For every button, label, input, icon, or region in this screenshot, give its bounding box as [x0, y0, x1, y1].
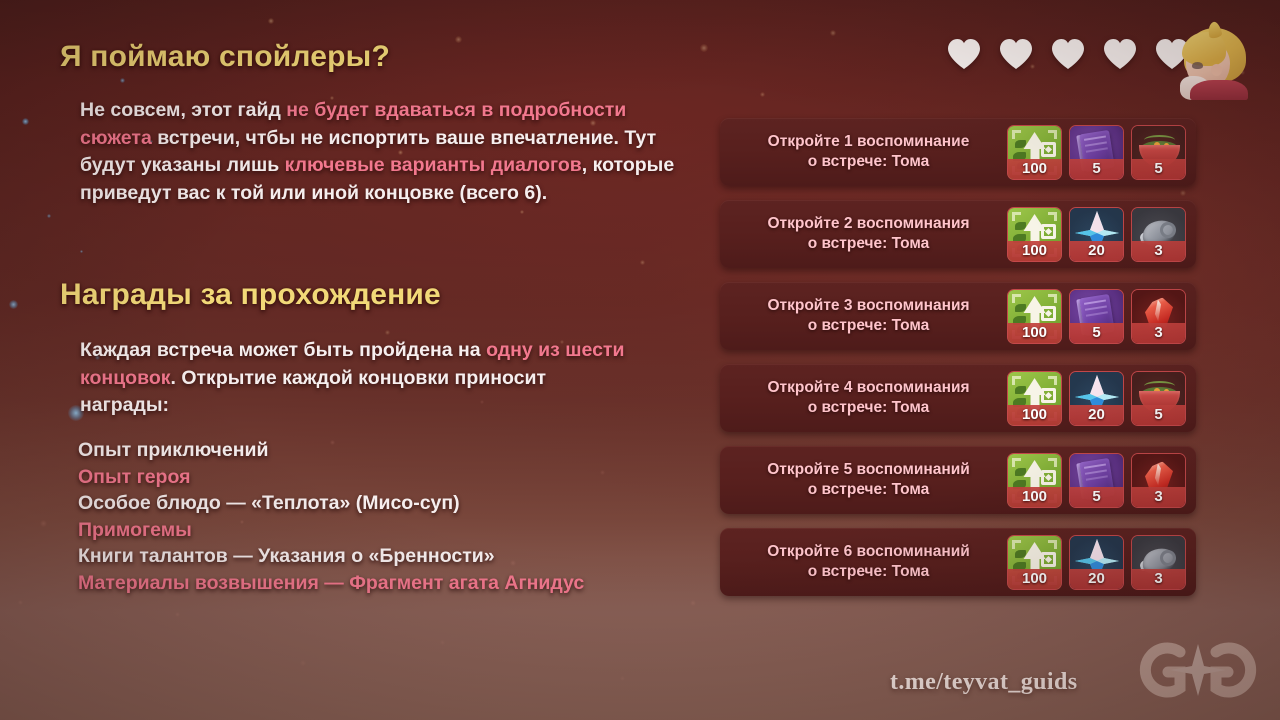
reward-item-quantity: 5 — [1132, 405, 1185, 425]
reward-card-title-line1: Откройте 6 воспоминаний — [767, 543, 970, 560]
reward-item-quantity: 100 — [1008, 159, 1061, 179]
reward-item[interactable]: 3 — [1131, 453, 1186, 508]
heart-icon — [947, 38, 981, 70]
avatar-collar — [1190, 80, 1248, 100]
reward-card-title-line1: Откройте 3 воспоминания — [767, 297, 969, 314]
reward-item[interactable]: 100 — [1007, 289, 1062, 344]
reward-card-title-line1: Откройте 5 воспоминаний — [767, 461, 970, 478]
spoilers-text-run-0: Не совсем, этот гайд — [80, 99, 286, 121]
section-title-rewards: Награды за прохождение — [60, 278, 441, 312]
reward-item[interactable]: 100 — [1007, 207, 1062, 262]
reward-item[interactable]: 20 — [1069, 371, 1124, 426]
reward-item-quantity: 100 — [1008, 487, 1061, 507]
gg-star-logo — [1128, 626, 1268, 714]
reward-item[interactable]: 5 — [1069, 125, 1124, 180]
spoilers-text-run-5: ключевые варианты диалогов — [285, 154, 582, 176]
reward-card-title-line2: о встрече: Тома — [738, 152, 999, 172]
reward-card[interactable]: Откройте 6 воспоминанийо встрече: Тома10… — [720, 528, 1196, 596]
reward-card[interactable]: Откройте 4 воспоминанияо встрече: Тома10… — [720, 364, 1196, 432]
reward-card-title: Откройте 1 воспоминаниео встрече: Тома — [720, 132, 1007, 172]
reward-item[interactable]: 5 — [1131, 125, 1186, 180]
reward-item-quantity: 5 — [1070, 487, 1123, 507]
reward-card-title: Откройте 4 воспоминанияо встрече: Тома — [720, 378, 1007, 418]
reward-item[interactable]: 5 — [1131, 371, 1186, 426]
heart-icon — [999, 38, 1033, 70]
reward-item-quantity: 3 — [1132, 569, 1185, 589]
reward-card-title-line2: о встрече: Тома — [738, 480, 999, 500]
reward-item-group: 10053 — [1007, 289, 1196, 344]
reward-card-title-line2: о встрече: Тома — [738, 316, 999, 336]
reward-item-group: 100203 — [1007, 535, 1196, 590]
reward-item[interactable]: 100 — [1007, 453, 1062, 508]
bokeh-particle — [700, 44, 708, 52]
reward-item-group: 10055 — [1007, 125, 1196, 180]
reward-item-quantity: 5 — [1070, 159, 1123, 179]
reward-item[interactable]: 100 — [1007, 371, 1062, 426]
reward-item[interactable]: 100 — [1007, 125, 1062, 180]
reward-card-title-line1: Откройте 2 воспоминания — [767, 215, 969, 232]
spoilers-text-run-1: не будет вдаваться — [286, 99, 476, 121]
reward-item-group: 100205 — [1007, 371, 1196, 426]
section-paragraph-rewards: Каждая встреча может быть пройдена на од… — [80, 337, 640, 420]
rewards-text-run-0: Каждая встреча может быть пройдена на — [80, 339, 486, 361]
reward-item[interactable]: 5 — [1069, 289, 1124, 344]
hearts-row — [947, 38, 1189, 70]
reward-item[interactable]: 100 — [1007, 535, 1062, 590]
reward-item-quantity: 5 — [1070, 323, 1123, 343]
reward-line-2: Особое блюдо — «Теплота» (Мисо-суп) — [78, 490, 584, 517]
reward-item[interactable]: 3 — [1131, 207, 1186, 262]
telegram-handle: t.me/teyvat_guids — [890, 669, 1077, 696]
heart-icon — [1051, 38, 1085, 70]
reward-line-3: Примогемы — [78, 517, 584, 544]
reward-card-title: Откройте 2 воспоминанияо встрече: Тома — [720, 214, 1007, 254]
reward-item-quantity: 100 — [1008, 241, 1061, 261]
section-title-spoilers: Я поймаю спойлеры? — [60, 40, 390, 74]
reward-item[interactable]: 20 — [1069, 207, 1124, 262]
avatar-eye — [1192, 62, 1203, 69]
reward-item-group: 100203 — [1007, 207, 1196, 262]
reward-line-4: Книги талантов — Указания о «Бренности» — [78, 543, 584, 570]
bokeh-particle — [830, 30, 836, 36]
reward-card-title-line2: о встрече: Тома — [738, 562, 999, 582]
reward-item-quantity: 3 — [1132, 241, 1185, 261]
reward-card-title-line2: о встрече: Тома — [738, 398, 999, 418]
reward-item-quantity: 20 — [1070, 241, 1123, 261]
reward-item[interactable]: 3 — [1131, 289, 1186, 344]
reward-card-title: Откройте 6 воспоминанийо встрече: Тома — [720, 542, 1007, 582]
left-content-column: Я поймаю спойлеры? Не совсем, этот гайд … — [0, 0, 700, 720]
reward-item-quantity: 100 — [1008, 323, 1061, 343]
avatar-ear — [1211, 64, 1222, 76]
character-avatar — [1178, 14, 1254, 100]
reward-item-group: 10053 — [1007, 453, 1196, 508]
heart-icon — [1103, 38, 1137, 70]
bokeh-particle — [760, 92, 765, 97]
reward-item-quantity: 3 — [1132, 323, 1185, 343]
reward-line-5: Материалы возвышения — Фрагмент агата Аг… — [78, 570, 584, 597]
reward-item[interactable]: 20 — [1069, 535, 1124, 590]
reward-cards-list: Откройте 1 воспоминаниео встрече: Тома10… — [720, 118, 1196, 610]
reward-item[interactable]: 3 — [1131, 535, 1186, 590]
slide-root: Я поймаю спойлеры? Не совсем, этот гайд … — [0, 0, 1280, 720]
reward-card-title-line1: Откройте 4 воспоминания — [767, 379, 969, 396]
reward-card[interactable]: Откройте 5 воспоминанийо встрече: Тома10… — [720, 446, 1196, 514]
reward-line-0: Опыт приключений — [78, 437, 584, 464]
rewards-list: Опыт приключенийОпыт герояОсобое блюдо —… — [78, 437, 584, 596]
reward-card-title: Откройте 3 воспоминанияо встрече: Тома — [720, 296, 1007, 336]
reward-card[interactable]: Откройте 3 воспоминанияо встрече: Тома10… — [720, 282, 1196, 350]
section-paragraph-spoilers: Не совсем, этот гайд не будет вдаваться … — [80, 97, 680, 207]
reward-card-title-line2: о встрече: Тома — [738, 234, 999, 254]
reward-item-quantity: 3 — [1132, 487, 1185, 507]
reward-card[interactable]: Откройте 1 воспоминаниео встрече: Тома10… — [720, 118, 1196, 186]
reward-item-quantity: 5 — [1132, 159, 1185, 179]
reward-card-title-line1: Откройте 1 воспоминание — [768, 133, 970, 150]
avatar-hair-front — [1182, 32, 1226, 66]
reward-item-quantity: 20 — [1070, 405, 1123, 425]
reward-item-quantity: 20 — [1070, 569, 1123, 589]
reward-card[interactable]: Откройте 2 воспоминанияо встрече: Тома10… — [720, 200, 1196, 268]
reward-item-quantity: 100 — [1008, 405, 1061, 425]
reward-line-1: Опыт героя — [78, 464, 584, 491]
reward-card-title: Откройте 5 воспоминанийо встрече: Тома — [720, 460, 1007, 500]
reward-item-quantity: 100 — [1008, 569, 1061, 589]
reward-item[interactable]: 5 — [1069, 453, 1124, 508]
